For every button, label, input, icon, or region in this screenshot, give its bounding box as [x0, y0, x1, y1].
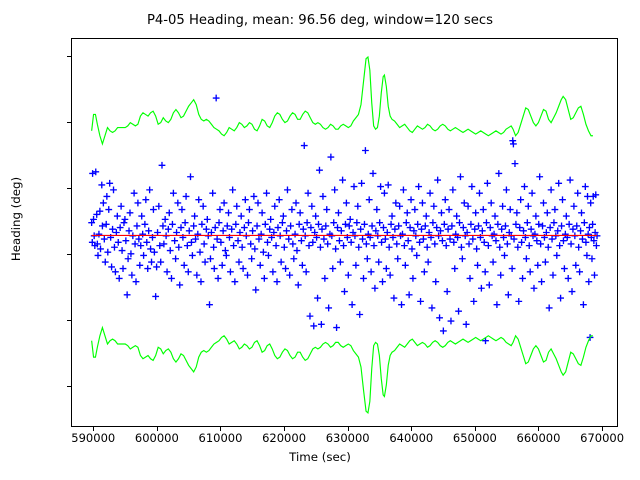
- x-tick-label-5: 640000: [389, 431, 433, 445]
- y-tick-mark-0: [67, 386, 71, 387]
- y-tick-mark-3: [67, 188, 71, 189]
- plot-axes: [71, 38, 618, 427]
- x-axis-label: Time (sec): [0, 450, 640, 464]
- x-tick-mark-6: [475, 427, 476, 431]
- x-tick-mark-3: [284, 427, 285, 431]
- x-tick-label-7: 660000: [517, 431, 561, 445]
- x-tick-mark-8: [602, 427, 603, 431]
- x-tick-mark-1: [157, 427, 158, 431]
- upper-envelope: [92, 57, 593, 144]
- matplotlib-figure: P4-05 Heading, mean: 96.56 deg, window=1…: [0, 0, 640, 480]
- y-tick-mark-2: [67, 254, 71, 255]
- series-layer: [88, 57, 600, 413]
- x-tick-label-6: 650000: [453, 431, 497, 445]
- x-tick-label-3: 620000: [262, 431, 306, 445]
- x-tick-label-0: 590000: [71, 431, 115, 445]
- page-title: P4-05 Heading, mean: 96.56 deg, window=1…: [0, 13, 640, 28]
- heading-samples: [88, 95, 600, 344]
- x-tick-mark-0: [93, 427, 94, 431]
- lower-envelope: [92, 328, 593, 413]
- x-tick-label-4: 630000: [326, 431, 370, 445]
- x-tick-mark-5: [411, 427, 412, 431]
- y-tick-mark-1: [67, 320, 71, 321]
- x-tick-mark-7: [538, 427, 539, 431]
- plot-canvas: [72, 39, 617, 426]
- x-tick-label-8: 670000: [580, 431, 624, 445]
- x-tick-mark-2: [220, 427, 221, 431]
- y-tick-mark-4: [67, 122, 71, 123]
- x-tick-mark-4: [348, 427, 349, 431]
- y-axis-label: Heading (deg): [9, 119, 23, 319]
- x-tick-label-2: 610000: [199, 431, 243, 445]
- x-tick-label-1: 600000: [135, 431, 179, 445]
- y-tick-mark-5: [67, 56, 71, 57]
